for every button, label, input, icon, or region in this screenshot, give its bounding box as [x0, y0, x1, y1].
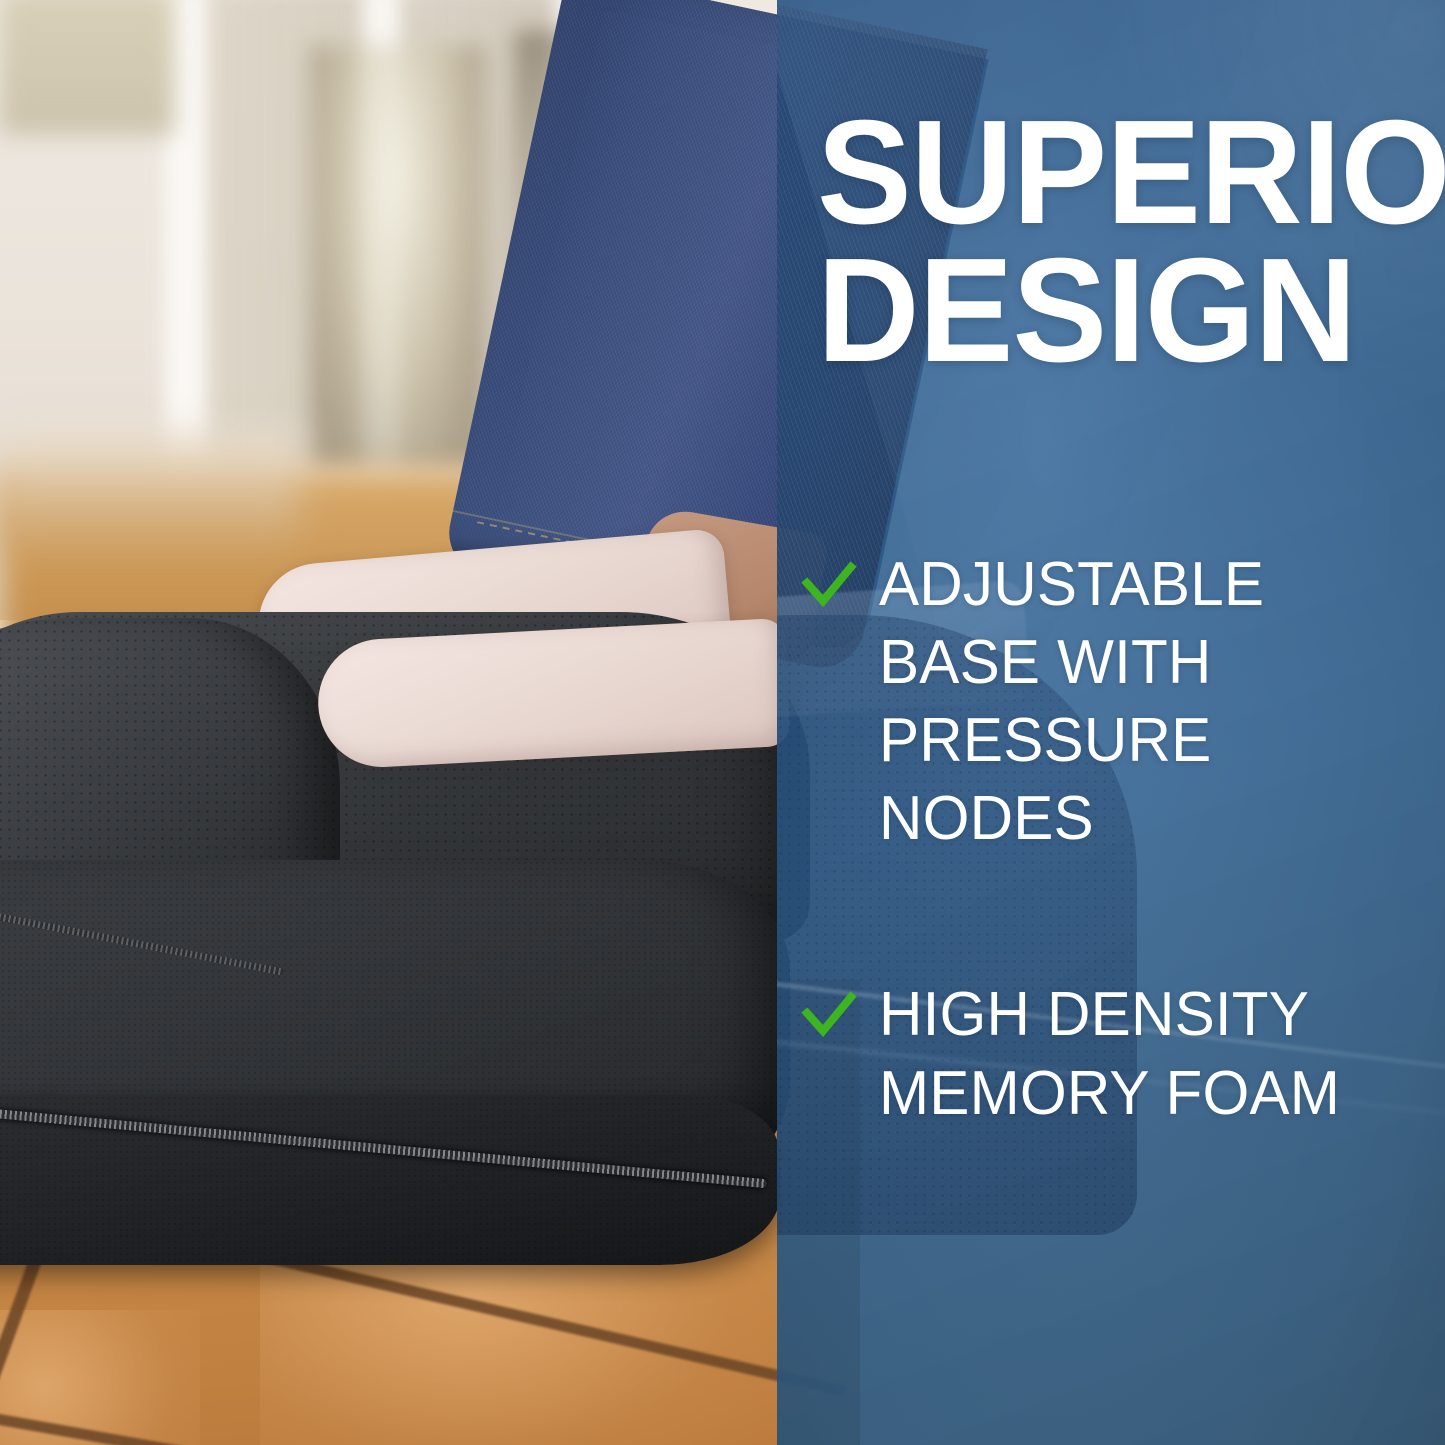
page-title: SUPERIOR DESIGN [817, 104, 1406, 379]
background-wood-floor-light [0, 430, 300, 550]
product-feature-image: SUPERIOR DESIGN ADJUSTABLE BASE WITH PRE… [0, 0, 1445, 1445]
feature-item: HIGH DENSITY MEMORY FOAM [801, 976, 1441, 1132]
cabinet-top-shelf [0, 0, 175, 135]
feature-label: ADJUSTABLE BASE WITH PRESSURE NODES [879, 546, 1383, 858]
tile-grout-line [0, 1400, 857, 1445]
headline-line-1: SUPERIOR [817, 104, 1406, 242]
headline-line-2: DESIGN [817, 242, 1406, 380]
feature-label: HIGH DENSITY MEMORY FOAM [879, 976, 1383, 1132]
check-icon [801, 988, 857, 1044]
feature-list: ADJUSTABLE BASE WITH PRESSURE NODES HIGH… [801, 546, 1441, 1133]
sock-front-foot [315, 618, 791, 770]
cabinet-glass-pane-left [310, 45, 485, 485]
feature-item: ADJUSTABLE BASE WITH PRESSURE NODES [801, 546, 1441, 858]
marketing-copy: SUPERIOR DESIGN ADJUSTABLE BASE WITH PRE… [777, 0, 1445, 1445]
check-icon [801, 558, 857, 614]
